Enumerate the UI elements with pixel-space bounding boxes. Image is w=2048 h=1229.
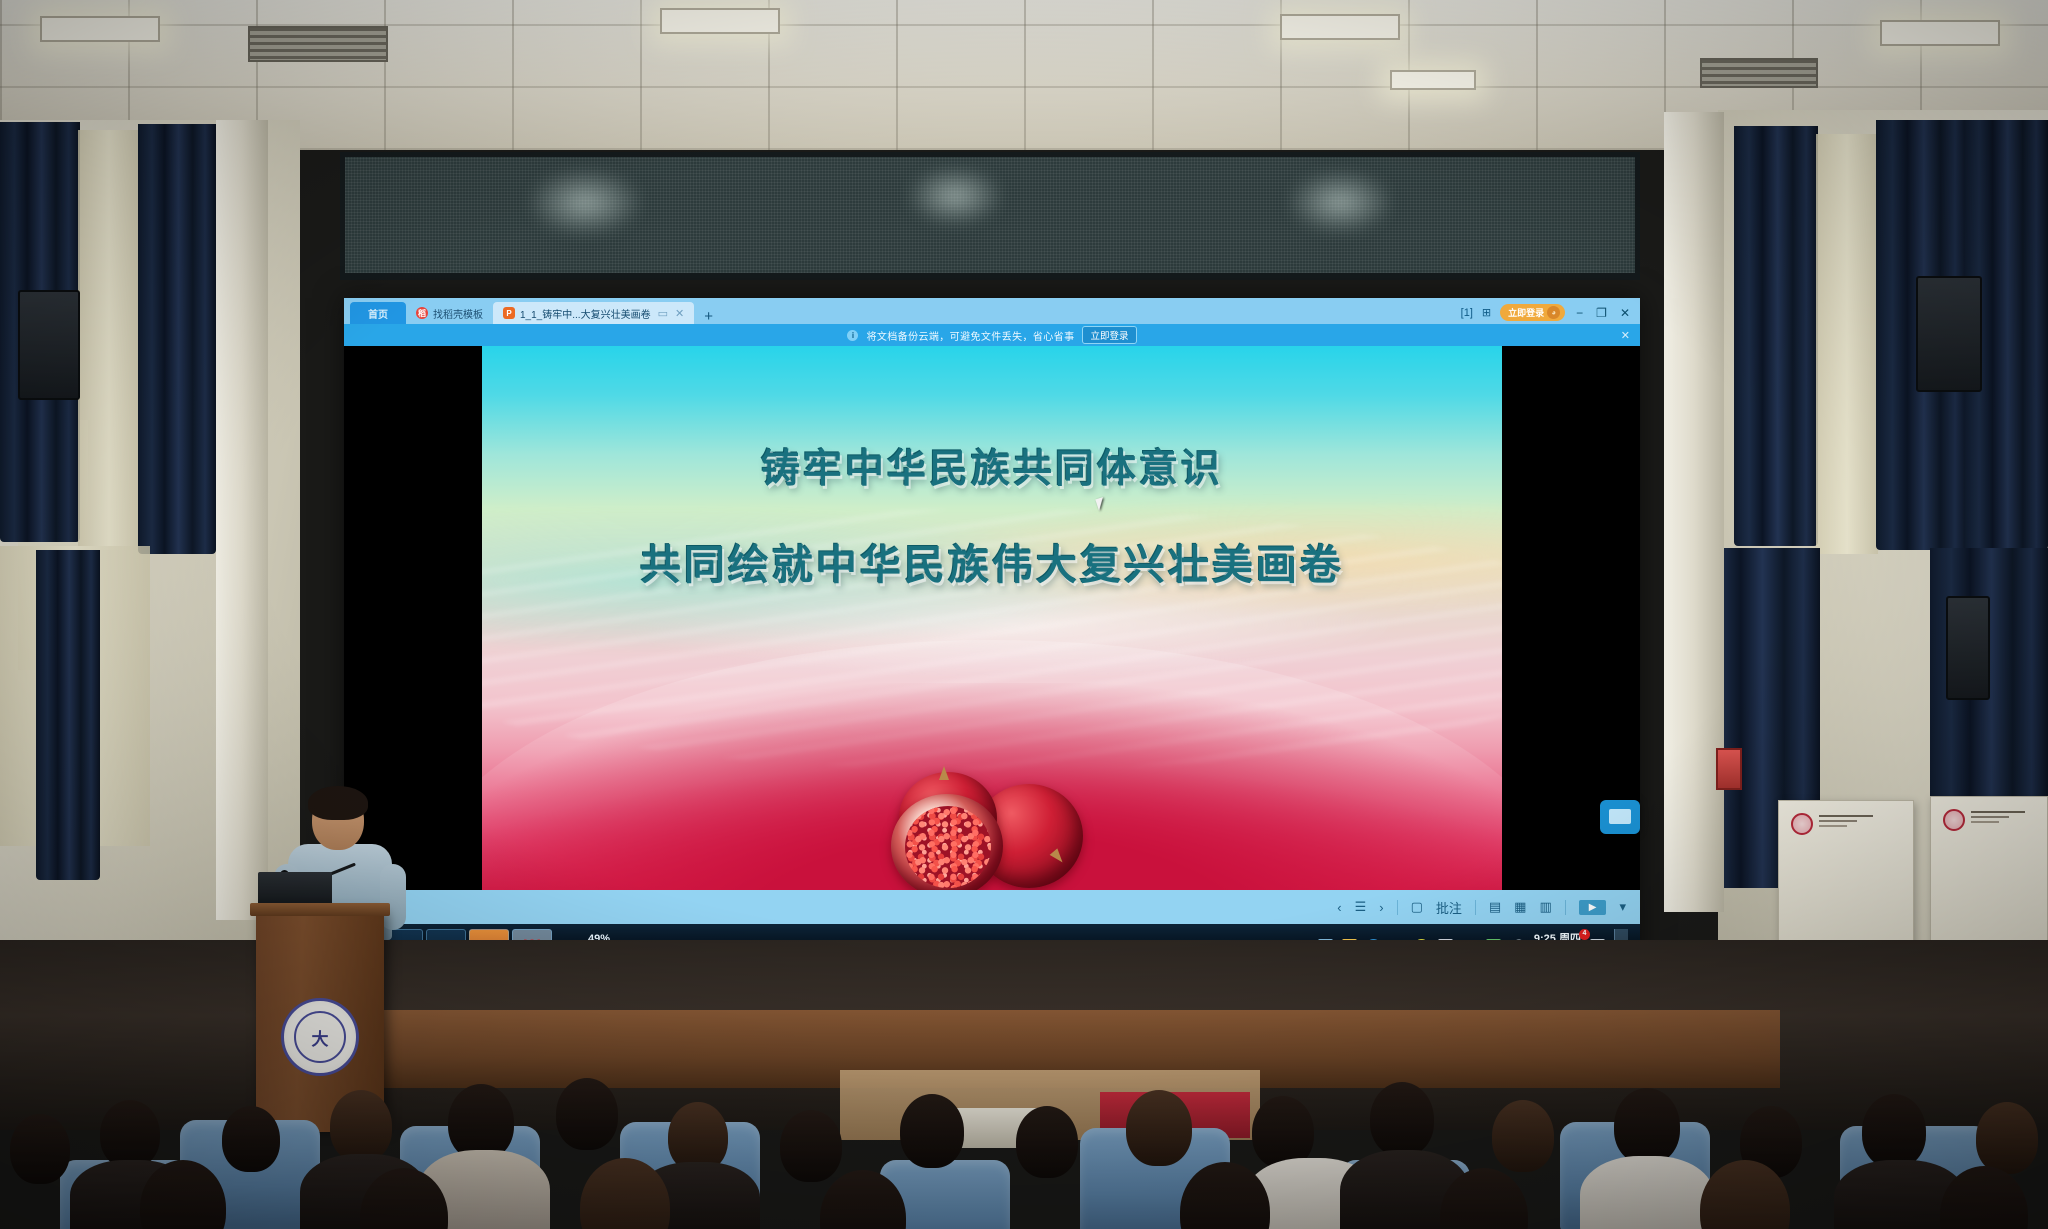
slide-title-block: 铸牢中华民族共同体意识 共同绘就中华民族伟大复兴壮美画卷 (482, 438, 1502, 591)
cloud-backup-notification: i 将文档备份云端，可避免文件丢失，省心省事 立即登录 ✕ (344, 324, 1640, 346)
audience-head (1976, 1102, 2038, 1174)
close-button[interactable]: ✕ (1618, 306, 1632, 320)
next-slide-button[interactable]: › (1379, 900, 1383, 915)
ceiling-vent (248, 26, 388, 62)
tab-close-icon[interactable]: ✕ (675, 307, 684, 320)
divider (1565, 900, 1566, 915)
wall-speaker-left (18, 290, 80, 400)
ppt-icon: P (503, 307, 515, 319)
slideshow-dropdown-icon[interactable]: ▾ (1619, 899, 1626, 915)
curtain-left-inner (138, 124, 216, 554)
login-button-label: 立即登录 (1508, 306, 1544, 319)
notification-close-icon[interactable]: ✕ (1621, 329, 1630, 342)
audience-head (222, 1106, 280, 1172)
led-reflection (1285, 169, 1395, 235)
seal-icon (1791, 813, 1813, 835)
divider (1475, 900, 1476, 915)
projection-screen[interactable]: 首页 稻 找稻壳模板 P 1_1_铸牢中...大复兴壮美画卷 ▭ ✕ + [1]… (344, 298, 1640, 968)
avatar: ◕ (1547, 306, 1560, 319)
seal-icon (1943, 809, 1965, 831)
comment-label[interactable]: 批注 (1436, 898, 1462, 917)
tab-docer-label: 找稻壳模板 (433, 306, 483, 321)
screen-overlay-widget[interactable] (1600, 800, 1640, 834)
ceiling-light (660, 8, 780, 34)
audience-head (330, 1090, 392, 1162)
normal-view-button[interactable]: ▤ (1489, 899, 1501, 915)
notification-message: 将文档备份云端，可避免文件丢失，省心省事 (866, 328, 1074, 343)
tab-split-icon[interactable]: ▭ (658, 307, 668, 320)
presenter-laptop (258, 872, 332, 906)
slide-outline-button[interactable]: ☰ (1355, 899, 1367, 915)
audience-head (448, 1084, 514, 1160)
divider (1397, 900, 1398, 915)
audience-head (1016, 1106, 1078, 1178)
slide-1[interactable]: 铸牢中华民族共同体意识 共同绘就中华民族伟大复兴壮美画卷 (482, 346, 1502, 890)
docer-icon: 稻 (416, 307, 428, 319)
minimize-button[interactable]: − (1574, 306, 1585, 320)
tab-presentation[interactable]: P 1_1_铸牢中...大复兴壮美画卷 ▭ ✕ (493, 302, 694, 324)
slide-canvas-area: 铸牢中华民族共同体意识 共同绘就中华民族伟大复兴壮美画卷 (344, 346, 1640, 890)
audience-head (10, 1114, 70, 1184)
new-tab-button[interactable]: + (694, 309, 723, 324)
ceiling-light (40, 16, 160, 42)
tab-presentation-label: 1_1_铸牢中...大复兴壮美画卷 (520, 306, 651, 321)
page-count-badge-icon[interactable]: [1] (1461, 307, 1473, 319)
podium-top (250, 903, 390, 916)
tab-docer[interactable]: 稻 找稻壳模板 (406, 302, 493, 324)
ceiling-light (1280, 14, 1400, 40)
info-icon: i (847, 330, 858, 341)
start-slideshow-button[interactable]: ▶ (1579, 900, 1607, 915)
presentation-status-bar: 1 / 63 ‹ ☰ › ▢ 批注 ▤ ▦ ▥ ▶ ▾ (344, 890, 1640, 924)
poster-text-lines (1971, 811, 2025, 826)
prev-slide-button[interactable]: ‹ (1337, 900, 1341, 915)
ceiling-light (1390, 70, 1476, 90)
grid-apps-icon[interactable]: ⊞ (1482, 306, 1491, 319)
fire-alarm-box (1716, 748, 1742, 790)
audience-head (900, 1094, 964, 1168)
ceiling-vent (1700, 58, 1818, 88)
curtain-right-inner (1734, 126, 1818, 546)
pomegranate-seeds (905, 806, 991, 888)
status-bar-controls: ‹ ☰ › ▢ 批注 ▤ ▦ ▥ ▶ ▾ (1337, 898, 1626, 917)
login-button[interactable]: 立即登录 ◕ (1500, 304, 1565, 321)
curtain-right-sheer (1816, 134, 1878, 554)
reading-view-button[interactable]: ▥ (1539, 899, 1551, 915)
audience-head (1370, 1082, 1434, 1156)
lecture-hall-scene: 首页 稻 找稻壳模板 P 1_1_铸牢中...大复兴壮美画卷 ▭ ✕ + [1]… (0, 0, 2048, 1229)
led-banner-display (340, 152, 1640, 280)
audience-head (556, 1078, 618, 1150)
tab-home[interactable]: 首页 (350, 302, 406, 324)
audience-head (1614, 1088, 1680, 1164)
curtain-left-sheer (78, 130, 140, 550)
pomegranate-crown-icon (939, 766, 949, 780)
audience-head (1492, 1100, 1554, 1172)
audience-head (1862, 1094, 1926, 1168)
audience-head (1126, 1090, 1192, 1166)
audience-head (780, 1110, 842, 1182)
notification-badge: 4 (1579, 929, 1590, 940)
poster-text-lines (1819, 815, 1873, 830)
wall-speaker-right-low (1946, 596, 1990, 700)
pomegranate-graphic (877, 762, 1107, 890)
comment-icon[interactable]: ▢ (1411, 899, 1423, 915)
tab-home-label: 首页 (368, 306, 388, 321)
audience-area (0, 1010, 2048, 1229)
wps-tab-bar: 首页 稻 找稻壳模板 P 1_1_铸牢中...大复兴壮美画卷 ▭ ✕ + [1]… (344, 298, 1640, 324)
audience-head (100, 1100, 160, 1168)
ceiling-light (1880, 20, 2000, 46)
audience-shoulders (1580, 1156, 1714, 1229)
curtain-left-lower (36, 550, 100, 880)
window-controls-group: [1] ⊞ 立即登录 ◕ − ❐ ✕ (1461, 304, 1640, 324)
led-reflection (905, 165, 1005, 227)
slide-title-line-2: 共同绘就中华民族伟大复兴壮美画卷 (482, 531, 1502, 591)
presenter-hair (308, 786, 368, 820)
led-reflection (525, 167, 645, 237)
slide-sorter-view-button[interactable]: ▦ (1514, 899, 1526, 915)
notification-login-button[interactable]: 立即登录 (1082, 326, 1136, 344)
wall-speaker-right (1916, 276, 1982, 392)
maximize-button[interactable]: ❐ (1594, 306, 1609, 320)
slide-title-line-1: 铸牢中华民族共同体意识 (482, 438, 1502, 494)
pillar-left (216, 120, 268, 920)
pillar-right (1664, 112, 1724, 912)
